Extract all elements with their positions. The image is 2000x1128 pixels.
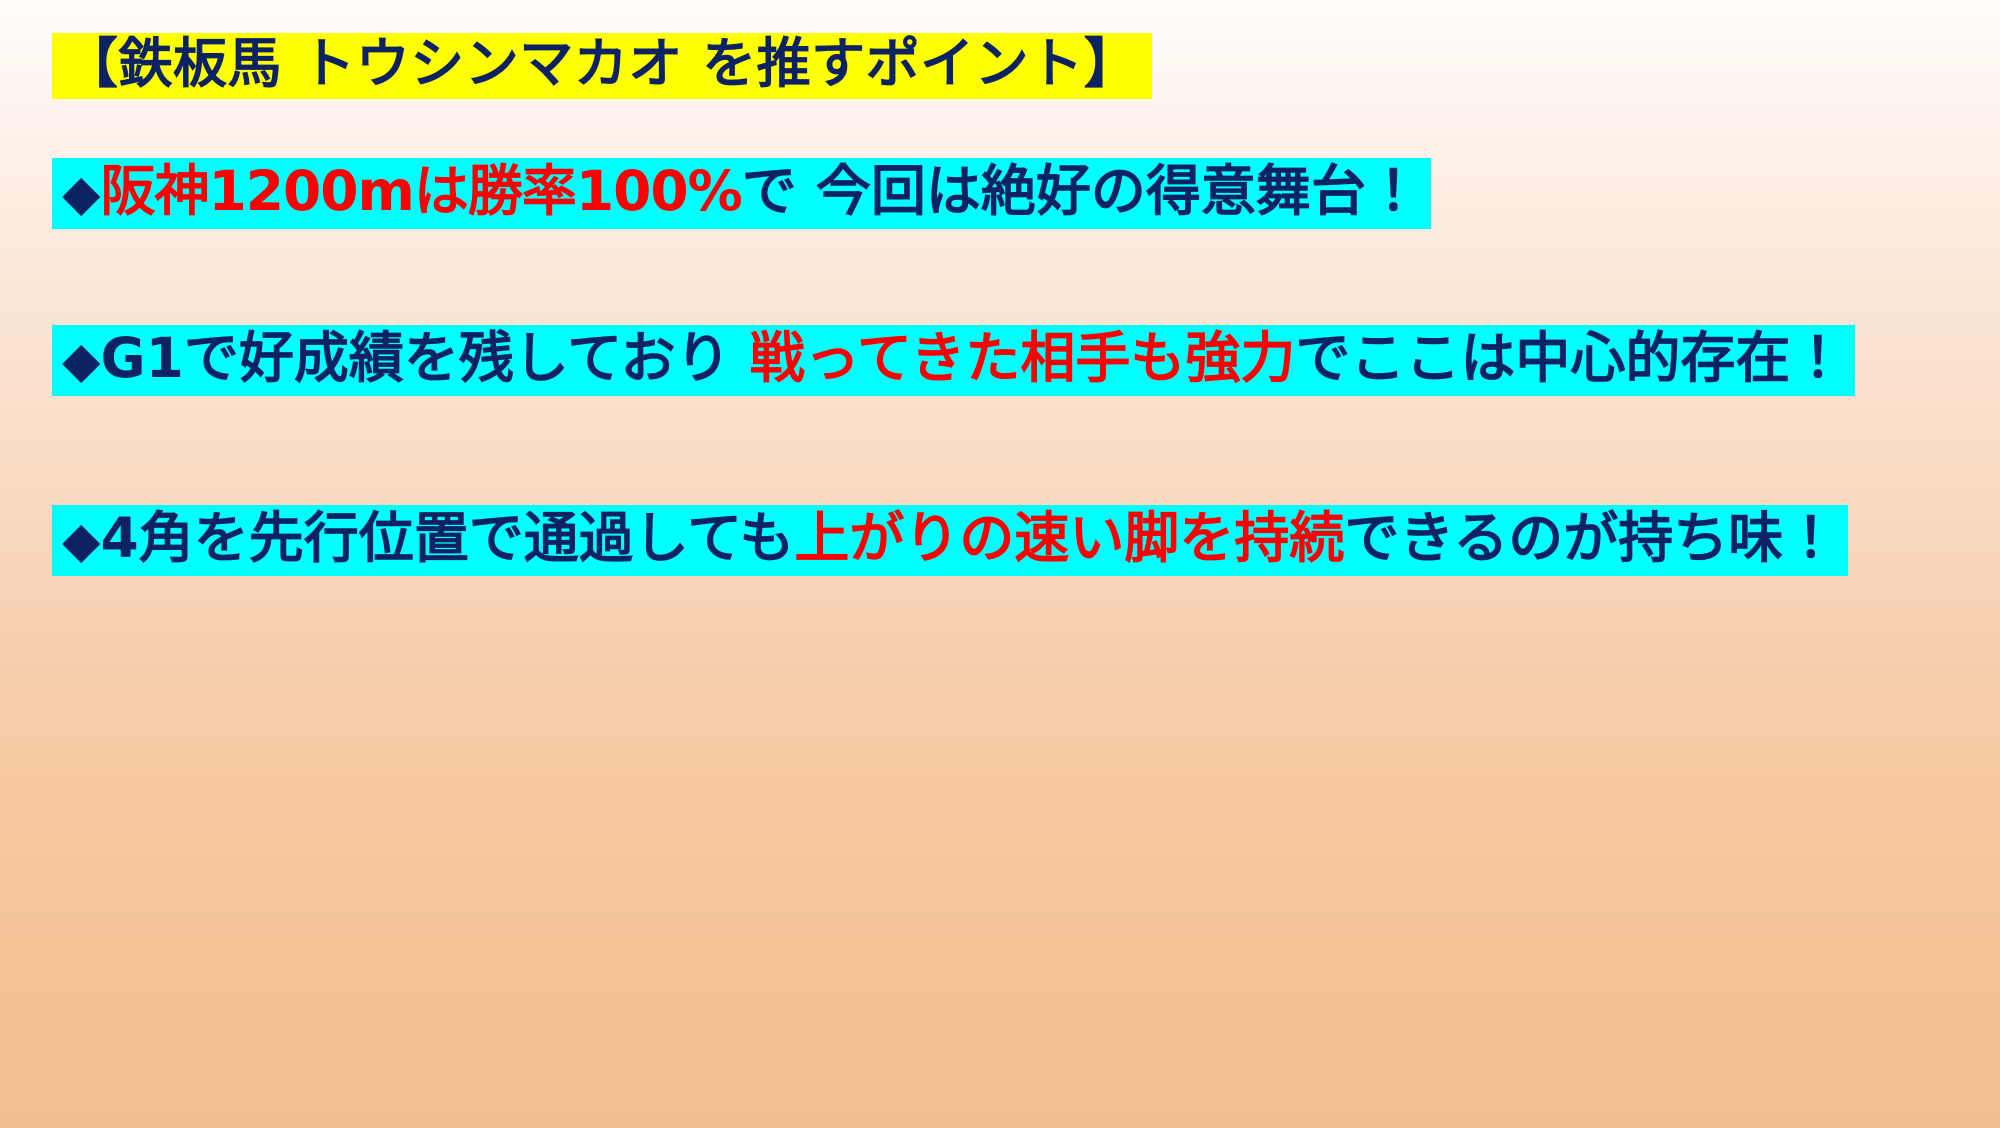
slide-canvas: 【鉄板馬 トウシンマカオ を推すポイント】 ◆阪神1200mは勝率100%で 今…	[0, 0, 2000, 1128]
title-highlight-band: 【鉄板馬 トウシンマカオ を推すポイント】	[52, 33, 1152, 99]
bullet-2-segment-red: 戦ってきた相手も強力	[750, 326, 1296, 390]
bullet-line-2: ◆G1で好成績を残しており 戦ってきた相手も強力でここは中心的存在！	[62, 326, 1845, 390]
page-title: 【鉄板馬 トウシンマカオ を推すポイント】	[64, 32, 1138, 95]
bullet-band-3: ◆4角を先行位置で通過しても上がりの速い脚を持続できるのが持ち味！	[52, 505, 1848, 576]
bullet-1-segment-red: 阪神1200mは勝率100%	[100, 159, 741, 223]
bullet-2-segment-navy-tail: でここは中心的存在！	[1295, 326, 1845, 390]
bullet-3-segment-navy-lead: 4角を先行位置で通過しても	[100, 506, 794, 570]
bullet-line-3: ◆4角を先行位置で通過しても上がりの速い脚を持続できるのが持ち味！	[62, 506, 1838, 570]
diamond-bullet-icon: ◆	[62, 511, 100, 569]
bullet-band-2: ◆G1で好成績を残しており 戦ってきた相手も強力でここは中心的存在！	[52, 325, 1855, 396]
bullet-band-1: ◆阪神1200mは勝率100%で 今回は絶好の得意舞台！	[52, 158, 1431, 229]
bullet-2-segment-navy-lead: G1で好成績を残しており	[100, 326, 749, 390]
diamond-bullet-icon: ◆	[62, 331, 100, 389]
bullet-1-segment-navy: で 今回は絶好の得意舞台！	[742, 159, 1421, 223]
bullet-3-segment-navy-tail: できるのが持ち味！	[1344, 506, 1838, 570]
bullet-line-1: ◆阪神1200mは勝率100%で 今回は絶好の得意舞台！	[62, 159, 1421, 223]
diamond-bullet-icon: ◆	[62, 164, 100, 222]
bullet-3-segment-red: 上がりの速い脚を持続	[794, 506, 1344, 570]
